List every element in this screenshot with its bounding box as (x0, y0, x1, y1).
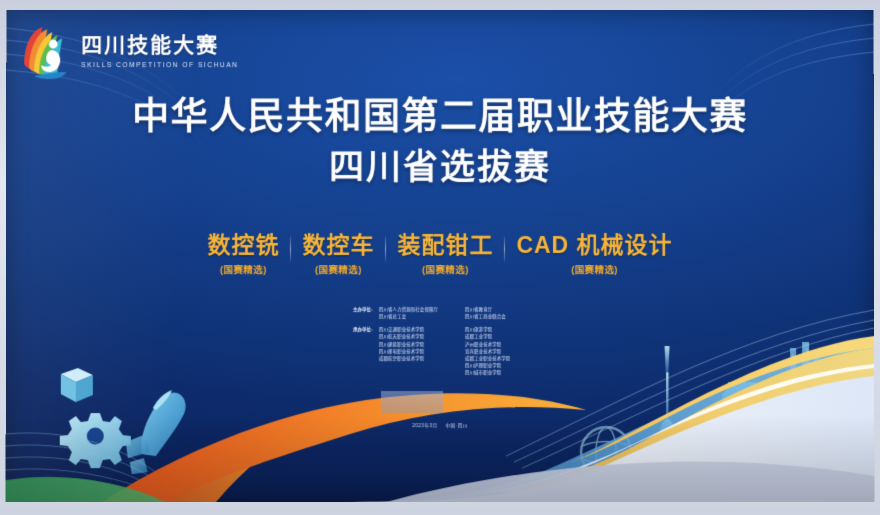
organizer-name: 四川城市职业学院 (465, 369, 510, 376)
redacted-patch (381, 391, 443, 413)
organizer-name: 宜宾职业技术学院 (465, 348, 510, 355)
organizer-column-right: 四川省教育厅 四川省工商业联合会 (465, 306, 506, 320)
organizer-label: 主办单位: (353, 306, 379, 320)
title-block: 中华人民共和国第二届职业技能大赛 四川省选拔赛 (6, 96, 874, 188)
organizer-name: 四川航天职业技术学院 (379, 333, 465, 340)
category-item: CAD 机械设计 (国赛精选) (505, 233, 683, 276)
category-item: 数控铣 (国赛精选) (196, 233, 290, 276)
logo: 四川技能大赛 SKILLS COMPETITION OF SICHUAN (20, 24, 238, 80)
event-backdrop-banner: 四川技能大赛 SKILLS COMPETITION OF SICHUAN 中华人… (6, 10, 875, 502)
logo-title-en: SKILLS COMPETITION OF SICHUAN (81, 62, 238, 69)
footer-place: 中国·四川 (445, 423, 467, 428)
organizer-column-right: 四川旅游学院 成都工业学院 泸州职业技术学院 宜宾职业技术学院 成都工业职业技术… (465, 326, 510, 376)
organizer-name: 成都工业学院 (465, 333, 510, 340)
organizer-name: 成都工业职业技术学院 (465, 355, 510, 362)
category-sub: (国赛精选) (516, 262, 672, 276)
category-name: 数控车 (302, 233, 374, 258)
organizer-name: 四川护理职业学院 (465, 362, 510, 369)
organizer-column-left: 四川交通职业技术学院 四川航天职业技术学院 四川建筑职业技术学院 四川邮电职业技… (379, 326, 465, 376)
organizer-group-cohost: 承办单位: 四川交通职业技术学院 四川航天职业技术学院 四川建筑职业技术学院 四… (353, 326, 553, 376)
organizer-name: 四川省工商业联合会 (465, 313, 506, 320)
organizer-column-left: 四川省人力资源和社会保障厅 四川省总工会 (379, 306, 465, 320)
category-name: 数控铣 (207, 233, 279, 258)
organizer-name: 成都航空职业技术学院 (379, 355, 465, 362)
category-sub: (国赛精选) (302, 262, 374, 276)
category-name: 装配钳工 (397, 233, 493, 258)
organizer-name: 四川建筑职业技术学院 (379, 341, 465, 348)
organizer-name: 四川交通职业技术学院 (379, 326, 465, 333)
organizer-name: 四川旅游学院 (465, 326, 510, 333)
sichuan-skills-fan-logo (20, 24, 72, 80)
footer-date-place: 2023年3月 中国·四川 (6, 423, 874, 429)
organizer-name: 四川省教育厅 (465, 306, 506, 313)
organizer-name: 四川省人力资源和社会保障厅 (379, 306, 465, 313)
organizer-block: 主办单位: 四川省人力资源和社会保障厅 四川省总工会 四川省教育厅 四川省工商业… (353, 306, 553, 382)
category-sub: (国赛精选) (207, 262, 279, 276)
category-item: 装配钳工 (国赛精选) (386, 233, 504, 276)
category-name: CAD 机械设计 (516, 233, 672, 258)
organizer-name: 泸州职业技术学院 (465, 341, 510, 348)
organizer-name: 四川邮电职业技术学院 (379, 348, 465, 355)
page-title-line1: 中华人民共和国第二届职业技能大赛 (6, 96, 874, 139)
page-title-line2: 四川省选拔赛 (6, 148, 874, 189)
organizer-name: 四川省总工会 (379, 313, 465, 320)
category-item: 数控车 (国赛精选) (291, 233, 385, 276)
organizer-group-host: 主办单位: 四川省人力资源和社会保障厅 四川省总工会 四川省教育厅 四川省工商业… (353, 306, 553, 320)
footer-date: 2023年3月 (412, 423, 437, 428)
logo-title-cn: 四川技能大赛 (81, 36, 238, 58)
category-sub: (国赛精选) (397, 262, 493, 276)
screenshot-canvas: 四川技能大赛 SKILLS COMPETITION OF SICHUAN 中华人… (0, 0, 880, 515)
category-strip: 数控铣 (国赛精选) 数控车 (国赛精选) 装配钳工 (国赛精选) CAD 机械… (6, 233, 874, 276)
organizer-label: 承办单位: (353, 326, 379, 376)
